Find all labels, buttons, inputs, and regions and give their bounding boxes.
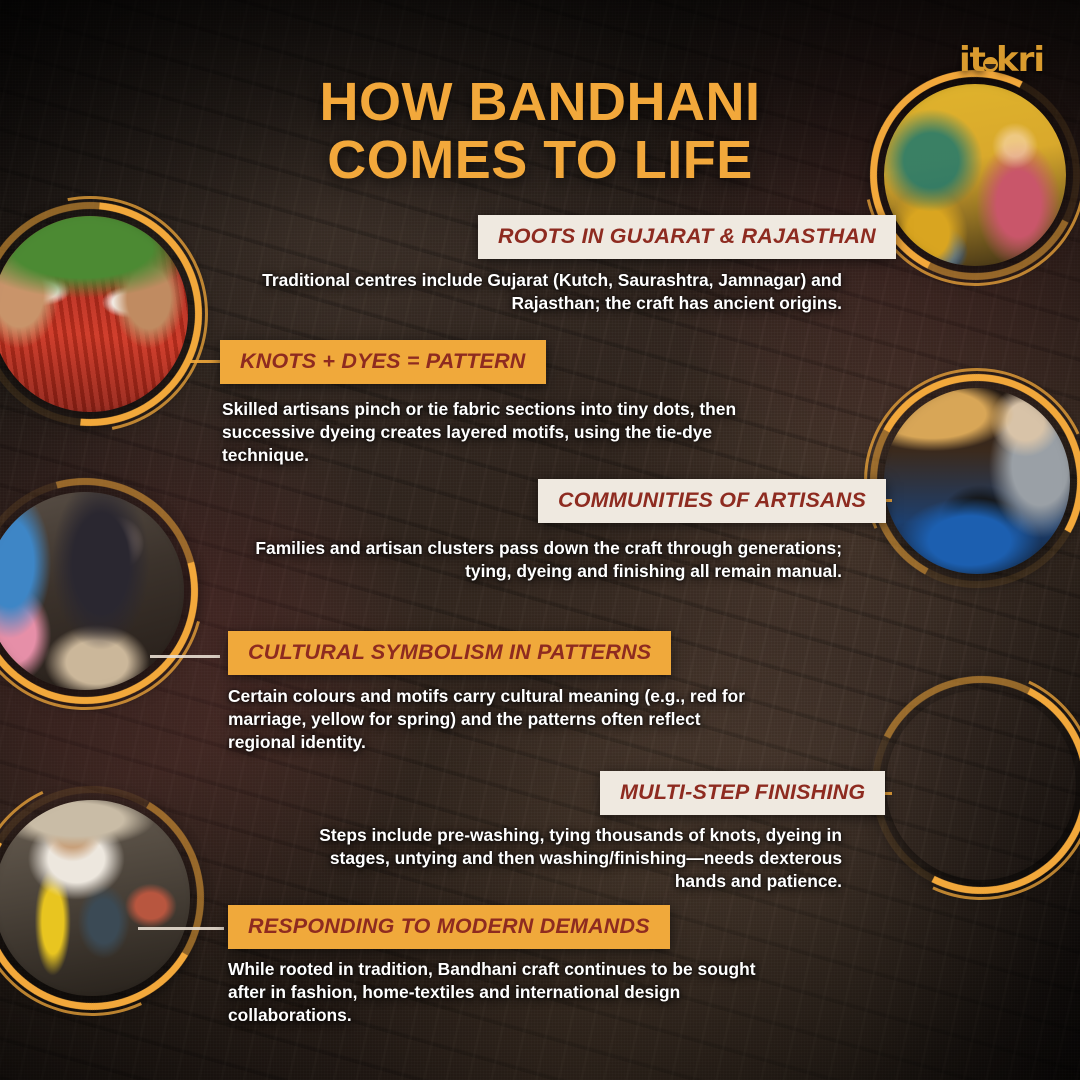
section-heading-3: COMMUNITIES OF ARTISANS [538, 479, 886, 523]
photo-hands-knotting-red [0, 216, 188, 412]
section-body-3: Families and artisan clusters pass down … [240, 537, 842, 583]
section-heading-5: MULTI-STEP FINISHING [600, 771, 885, 815]
section-body-4: Certain colours and motifs carry cultura… [228, 685, 762, 754]
connector-line-6 [138, 927, 224, 930]
logo-text-part-1: it [959, 40, 985, 80]
photo-dye-vat-blue [886, 690, 1076, 880]
logo-text-part-2: kri [996, 40, 1044, 80]
connector-line-4 [150, 655, 220, 658]
section-heading-1: ROOTS IN GUJARAT & RAJASTHAN [478, 215, 896, 259]
section-body-2: Skilled artisans pinch or tie fabric sec… [222, 398, 752, 467]
photo-man-lifting-yellow [0, 800, 190, 996]
connector-line-2 [186, 360, 222, 363]
section-heading-6: RESPONDING TO MODERN DEMANDS [228, 905, 670, 949]
page-title-line-2: COMES TO LIFE [170, 132, 910, 190]
page-title-line-1: HOW BANDHANI [320, 72, 761, 132]
logo-basket-icon [983, 57, 998, 72]
section-heading-4: CULTURAL SYMBOLISM IN PATTERNS [228, 631, 671, 675]
itokri-logo[interactable]: itkri [959, 40, 1044, 80]
page-title: HOW BANDHANI COMES TO LIFE [0, 74, 1080, 190]
section-heading-2: KNOTS + DYES = PATTERN [220, 340, 546, 384]
section-body-6: While rooted in tradition, Bandhani craf… [228, 958, 780, 1027]
photo-artisan-dye-tub [884, 388, 1070, 574]
photo-women-tying-cloth [0, 492, 184, 690]
section-body-5: Steps include pre-washing, tying thousan… [300, 824, 842, 893]
section-body-1: Traditional centres include Gujarat (Kut… [240, 269, 842, 315]
